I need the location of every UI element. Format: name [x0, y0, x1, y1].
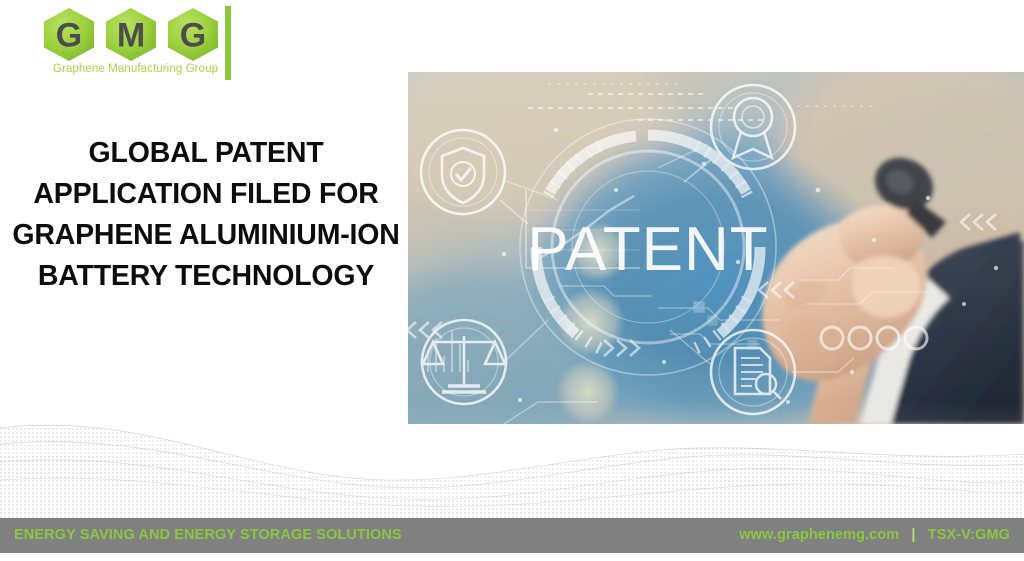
footer-bottom-strip	[0, 553, 1024, 561]
footer-tagline: ENERGY SAVING AND ENERGY STORAGE SOLUTIO…	[14, 518, 402, 553]
svg-text:M: M	[117, 17, 145, 55]
hex-g-left: G	[44, 8, 94, 61]
logo-caption: Graphene Manufacturing Group	[38, 63, 233, 75]
hex-g-right: G	[168, 8, 218, 61]
svg-text:G: G	[180, 17, 206, 55]
slide-root: G M G Graphene Manufacturing Group GLOBA…	[0, 0, 1024, 561]
hero-image: PATENT	[408, 72, 1024, 424]
footer-ticker: TSX-V:GMG	[928, 527, 1010, 543]
footer-bar: ENERGY SAVING AND ENERGY STORAGE SOLUTIO…	[0, 518, 1024, 553]
footer-contact: www.graphenemg.com | TSX-V:GMG	[739, 518, 1010, 553]
footer-separator: |	[903, 518, 923, 553]
page-title: GLOBAL PATENT APPLICATION FILED FOR GRAP…	[8, 133, 404, 297]
hero-illustration: PATENT	[408, 72, 1024, 424]
footer-website[interactable]: www.graphenemg.com	[739, 527, 899, 543]
logo-hexagons: G M G	[38, 6, 233, 62]
logo-divider-bar	[225, 6, 231, 80]
company-logo: G M G Graphene Manufacturing Group	[38, 6, 233, 86]
hex-m-middle: M	[106, 8, 156, 61]
svg-text:G: G	[56, 17, 82, 55]
